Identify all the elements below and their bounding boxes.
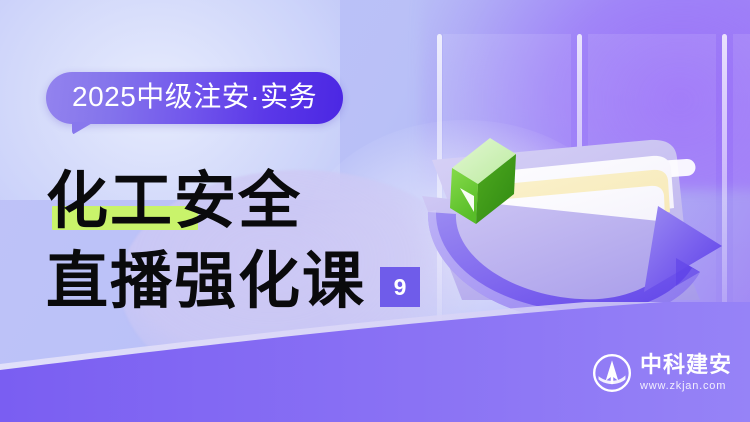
title-line-1-row: 化工安全 (46, 150, 466, 232)
brand-url: www.zkjan.com (640, 381, 732, 392)
title-line-1: 化工安全 (46, 171, 302, 232)
title-line-2-row: 直播强化课 9 (46, 238, 466, 312)
course-banner: 2025中级注安·实务 化工安全 直播强化课 9 中科建安 www.zkjan.… (0, 0, 750, 422)
pill-tail-icon (72, 122, 94, 135)
brand-name: 中科建安 (640, 355, 732, 377)
course-category-label: 2025中级注安·实务 (72, 83, 317, 111)
title-line-2: 直播强化课 (46, 251, 366, 312)
zkjan-circle-icon (593, 354, 631, 392)
course-category-badge[interactable]: 2025中级注安·实务 (46, 72, 343, 124)
page-title: 化工安全 直播强化课 9 (46, 150, 466, 312)
brand-logo-text: 中科建安 www.zkjan.com (640, 355, 732, 392)
episode-badge: 9 (380, 267, 420, 307)
brand-logo[interactable]: 中科建安 www.zkjan.com (593, 354, 732, 392)
